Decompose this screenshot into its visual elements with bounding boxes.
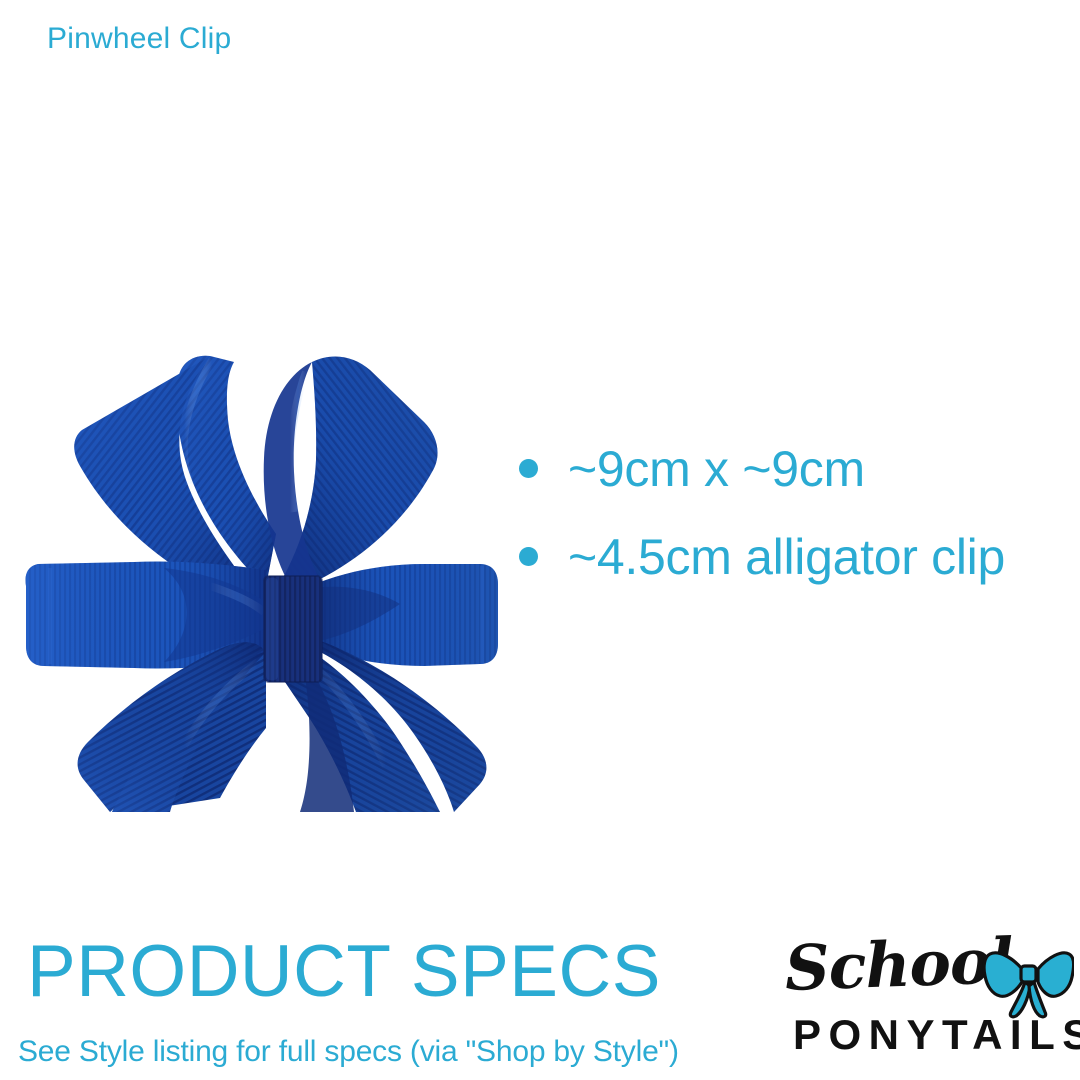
brand-block-word: PONYTAILS [793,1014,1080,1056]
list-item: ~4.5cm alligator clip [508,520,1048,594]
footer-heading: PRODUCT SPECS [27,935,661,1008]
bow-center-knot [264,576,322,682]
pinwheel-bow-icon [14,336,506,812]
spec-list: ~9cm x ~9cm ~4.5cm alligator clip [508,432,1048,608]
bow-petal-top-left [74,356,276,598]
page-title: Pinwheel Clip [47,22,231,56]
product-specs-canvas: Pinwheel Clip [0,0,1080,1080]
bow-petal-top-right [264,356,438,583]
spec-text: ~9cm x ~9cm [568,441,865,497]
bullet-icon [519,459,538,478]
brand-logo: School PONYTAILS [786,938,1074,1068]
bow-icon [982,942,1074,1020]
list-item: ~9cm x ~9cm [508,432,1048,506]
brand-script-word: School [784,930,1014,1000]
footer-subtitle: See Style listing for full specs (via "S… [18,1035,679,1069]
product-image [14,336,506,812]
bullet-icon [519,547,538,566]
spec-text: ~4.5cm alligator clip [568,529,1005,585]
